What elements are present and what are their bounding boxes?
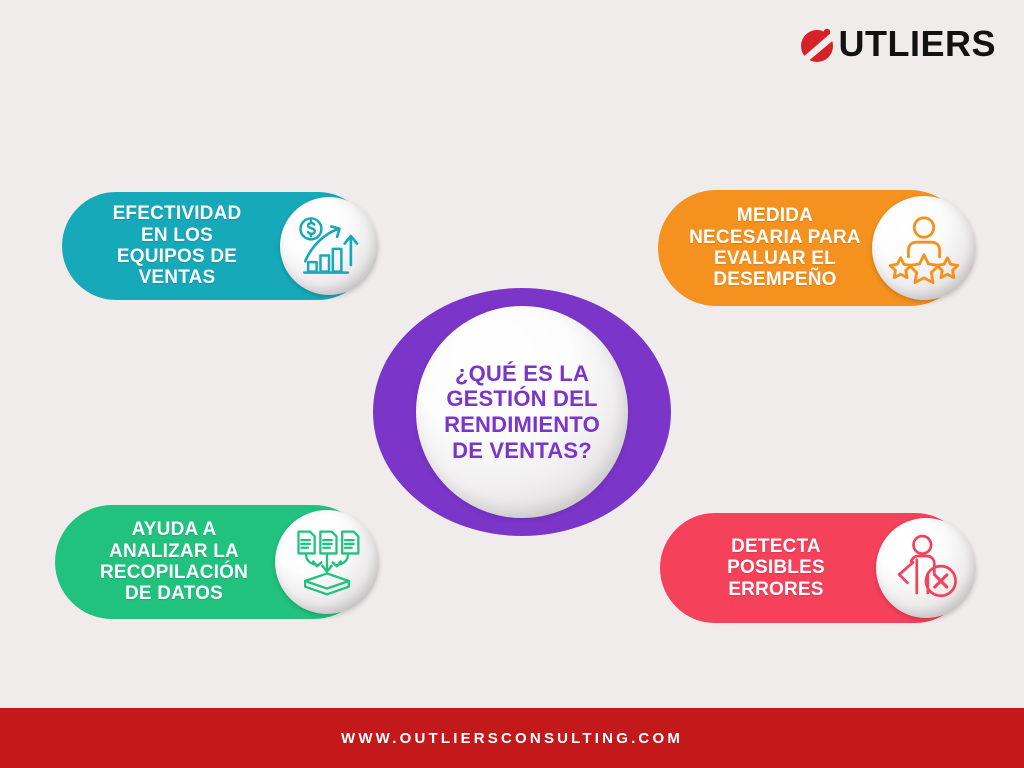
badge-medida-label: MEDIDA NECESARIA PARA EVALUAR EL DESEMPE… <box>664 205 886 290</box>
outliers-o-mark-icon <box>796 22 840 66</box>
documents-to-tray-icon <box>275 510 379 614</box>
badge-efectividad-label: EFECTIVIDAD EN LOS EQUIPOS DE VENTAS <box>70 203 284 288</box>
badge-errores[interactable]: DETECTA POSIBLES ERRORES <box>660 513 970 623</box>
dollar-growth-chart-icon <box>280 197 378 295</box>
badge-recopilacion-label: AYUDA A ANALIZAR LA RECOPILACIÓN DE DATO… <box>61 519 287 604</box>
center-sphere: ¿QUÉ ES LA GESTIÓN DEL RENDIMIENTO DE VE… <box>416 306 628 518</box>
person-three-stars-icon <box>872 196 976 300</box>
badge-errores-label: DETECTA POSIBLES ERRORES <box>670 536 882 600</box>
logo-wordmark: UTLIERS <box>838 26 996 62</box>
outliers-logo: UTLIERS <box>796 22 996 66</box>
badge-efectividad[interactable]: EFECTIVIDAD EN LOS EQUIPOS DE VENTAS <box>62 192 372 300</box>
center-question-title: ¿QUÉ ES LA GESTIÓN DEL RENDIMIENTO DE VE… <box>444 361 600 464</box>
footer-bar: WWW.OUTLIERSCONSULTING.COM <box>0 708 1024 768</box>
infographic-canvas: UTLIERS EFECTIVIDAD EN LOS EQUIPOS DE VE… <box>0 0 1024 768</box>
badge-recopilacion[interactable]: AYUDA A ANALIZAR LA RECOPILACIÓN DE DATO… <box>55 505 371 619</box>
badge-medida[interactable]: MEDIDA NECESARIA PARA EVALUAR EL DESEMPE… <box>658 190 968 306</box>
person-error-x-icon <box>876 518 976 618</box>
footer-website-url[interactable]: WWW.OUTLIERSCONSULTING.COM <box>341 730 683 747</box>
center-question-ring: ¿QUÉ ES LA GESTIÓN DEL RENDIMIENTO DE VE… <box>373 288 671 536</box>
